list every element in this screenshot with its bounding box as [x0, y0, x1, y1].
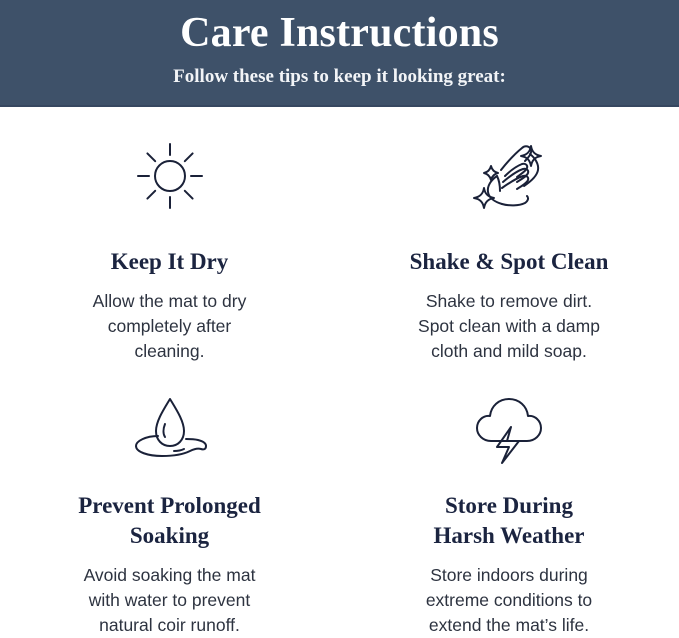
- care-card-keep-it-dry: Keep It Dry Allow the mat to dry complet…: [0, 107, 339, 367]
- washing-hands-sparkle-icon: [467, 135, 551, 217]
- care-card-body: Avoid soaking the mat with water to prev…: [84, 563, 256, 638]
- care-card-shake-spot-clean: Shake & Spot Clean Shake to remove dirt.…: [339, 107, 679, 367]
- care-card-body: Store indoors during extreme conditions …: [426, 563, 592, 638]
- care-card-body: Shake to remove dirt. Spot clean with a …: [418, 289, 600, 364]
- care-card-body: Allow the mat to dry completely after cl…: [93, 289, 247, 364]
- care-card-title: Prevent Prolonged Soaking: [78, 491, 260, 551]
- page-subtitle: Follow these tips to keep it looking gre…: [173, 64, 506, 90]
- care-card-title: Shake & Spot Clean: [410, 247, 609, 277]
- header-banner: Care Instructions Follow these tips to k…: [0, 0, 679, 107]
- care-instructions-page: Care Instructions Follow these tips to k…: [0, 0, 679, 628]
- care-card-store-harsh-weather: Store During Harsh Weather Store indoors…: [339, 367, 679, 628]
- care-card-title: Keep It Dry: [111, 247, 229, 277]
- sun-icon: [132, 135, 208, 217]
- storm-cloud-lightning-icon: [469, 389, 549, 465]
- care-tips-grid: Keep It Dry Allow the mat to dry complet…: [0, 107, 679, 628]
- care-card-prevent-soaking: Prevent Prolonged Soaking Avoid soaking …: [0, 367, 339, 628]
- page-title: Care Instructions: [180, 8, 499, 58]
- care-card-title: Store During Harsh Weather: [434, 491, 585, 551]
- water-droplet-puddle-icon: [124, 389, 216, 465]
